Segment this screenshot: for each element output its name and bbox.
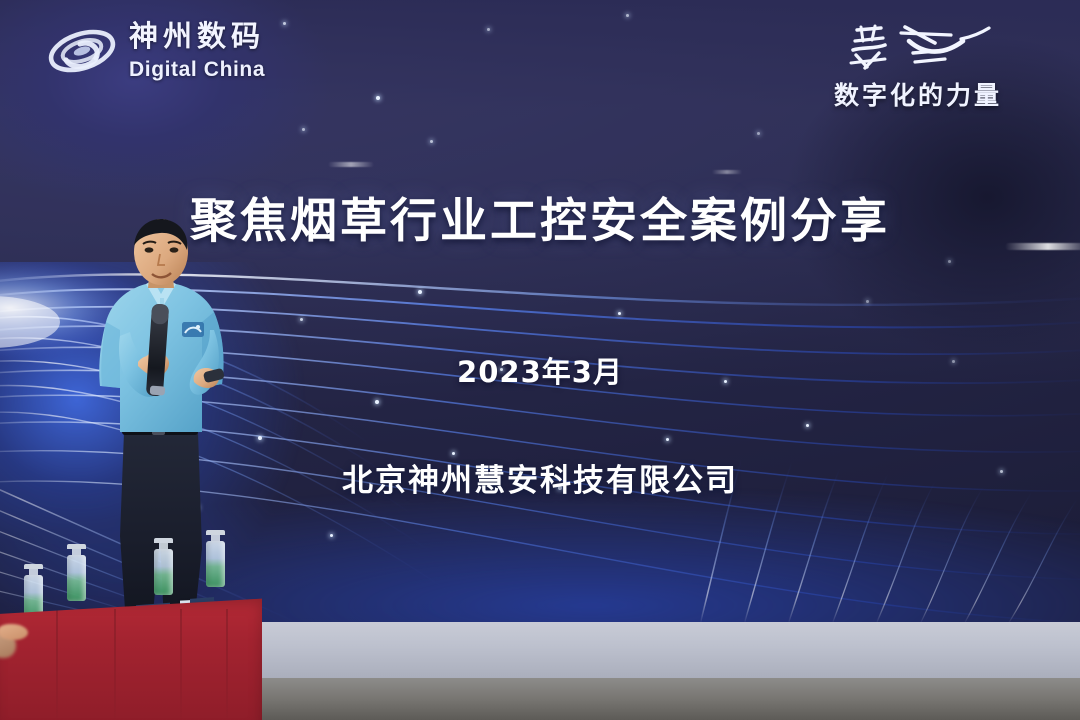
water-bottle-icon xyxy=(67,544,86,601)
water-bottle-icon xyxy=(206,530,225,587)
presenter-head xyxy=(134,219,188,285)
seated-attendee-hand xyxy=(0,624,28,640)
table-cloth xyxy=(0,596,262,720)
brand-name-en: Digital China xyxy=(129,59,265,80)
water-bottle-icon xyxy=(154,538,173,595)
brand-name-cn: 神州数码 xyxy=(129,23,265,52)
event-tagline: 数字化的力量 xyxy=(784,16,1052,112)
calligraphy-juhe xyxy=(784,16,1052,78)
calligraphy-strokes-icon xyxy=(843,17,993,77)
tagline-subtitle: 数字化的力量 xyxy=(784,76,1052,112)
front-row-table xyxy=(0,596,262,720)
shirt-chest-logo-icon xyxy=(182,322,204,337)
conference-photo: 神州数码 Digital China xyxy=(0,0,1080,720)
presenter-figure xyxy=(86,218,276,624)
brand-lockup: 神州数码 Digital China xyxy=(46,20,265,82)
digital-china-swirl-icon xyxy=(46,20,118,82)
